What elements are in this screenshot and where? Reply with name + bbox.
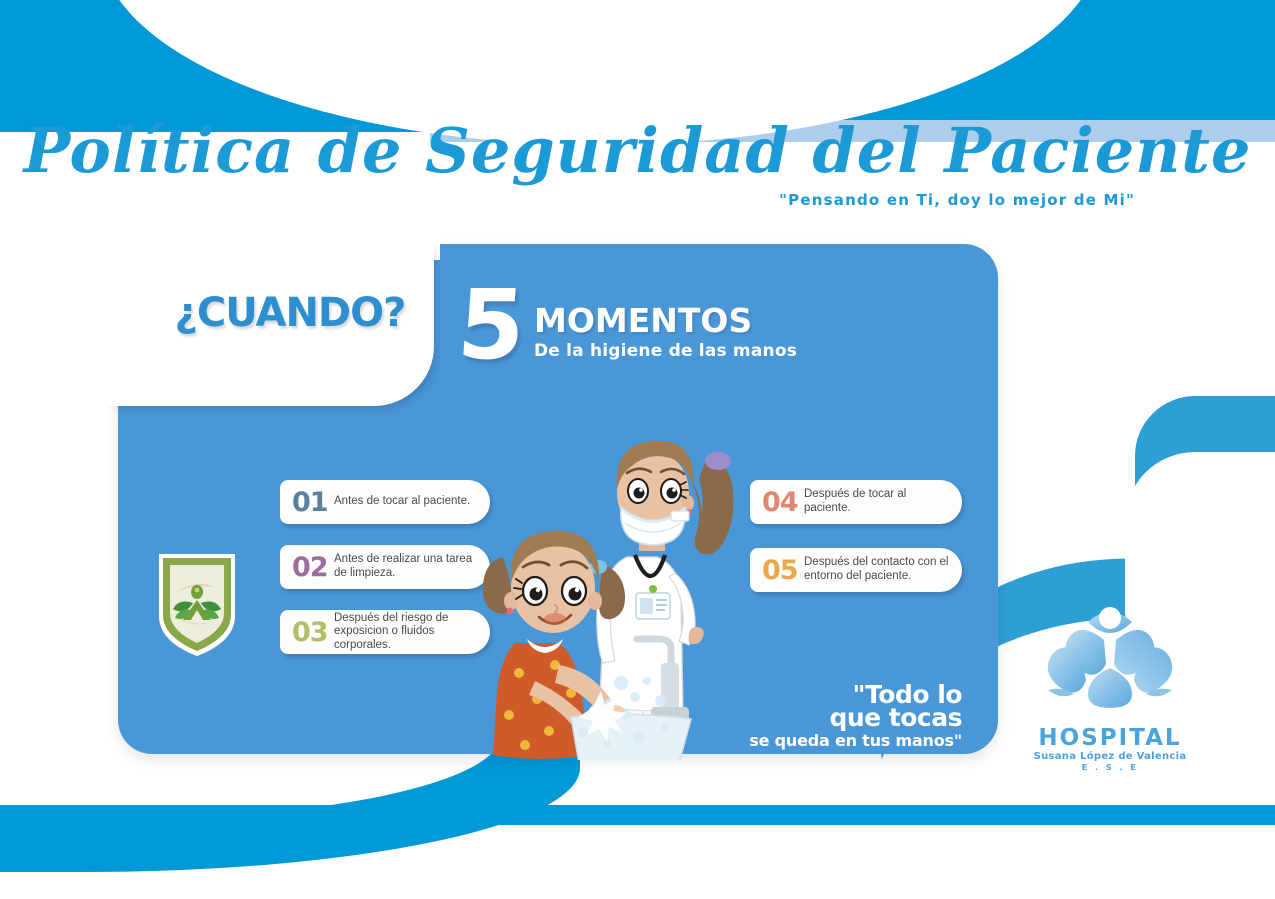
- momentos-heading: MOMENTOS: [534, 304, 797, 337]
- momentos-heading-group: MOMENTOS De la higiene de las manos: [534, 304, 797, 361]
- momentos-subheading: De la higiene de las manos: [534, 341, 797, 361]
- moment-item-05[interactable]: 05 Después del contacto con el entorno d…: [750, 548, 962, 592]
- moment-item-02[interactable]: 02 Antes de realizar una tarea de limpie…: [280, 545, 490, 589]
- big-number-five: 5: [455, 286, 527, 365]
- moment-text-02: Antes de realizar una tarea de limpieza.: [334, 553, 490, 580]
- handwash-quote: "Todo lo que tocas se queda en tus manos…: [700, 683, 962, 750]
- moment-item-04[interactable]: 04 Después de tocar al paciente.: [750, 480, 962, 524]
- logo-hospital-name: HOSPITAL: [1030, 727, 1190, 750]
- lotus-figure-icon: [1030, 592, 1190, 722]
- hospital-logo: HOSPITAL Susana López de Valencia E . S …: [1030, 592, 1190, 782]
- moment-text-05: Después del contacto con el entorno del …: [804, 556, 962, 583]
- top-blue-band: [0, 0, 1275, 132]
- moment-text-04: Después de tocar al paciente.: [804, 488, 962, 515]
- poster-header: Política de Seguridad del Paciente "Pens…: [0, 118, 1275, 209]
- cuando-label: ¿CUANDO?: [140, 290, 440, 336]
- logo-hospital-subname: Susana López de Valencia: [1030, 751, 1190, 762]
- moment-item-01[interactable]: 01 Antes de tocar al paciente.: [280, 480, 490, 524]
- quote-line-3: se queda en tus manos": [700, 731, 962, 750]
- page-title: Política de Seguridad del Paciente: [0, 118, 1275, 183]
- page-subtitle: "Pensando en Ti, doy lo mejor de Mi": [0, 191, 1135, 209]
- quote-line-2: que tocas: [700, 706, 962, 729]
- bottom-blue-bar: [0, 805, 1275, 825]
- bottom-left-blue-wedge: [0, 742, 580, 872]
- moment-item-03[interactable]: 03 Después del riesgo de exposicion o fl…: [280, 610, 490, 654]
- moment-text-01: Antes de tocar al paciente.: [334, 495, 478, 509]
- poster-root: Política de Seguridad del Paciente "Pens…: [0, 0, 1275, 899]
- moment-text-03: Después del riesgo de exposicion o fluid…: [334, 612, 490, 653]
- moment-number-02: 02: [292, 554, 334, 581]
- moment-number-01: 01: [292, 489, 334, 516]
- moment-number-03: 03: [292, 619, 334, 646]
- safety-shield-badge: [155, 548, 239, 658]
- logo-ese-label: E . S . E: [1030, 763, 1190, 772]
